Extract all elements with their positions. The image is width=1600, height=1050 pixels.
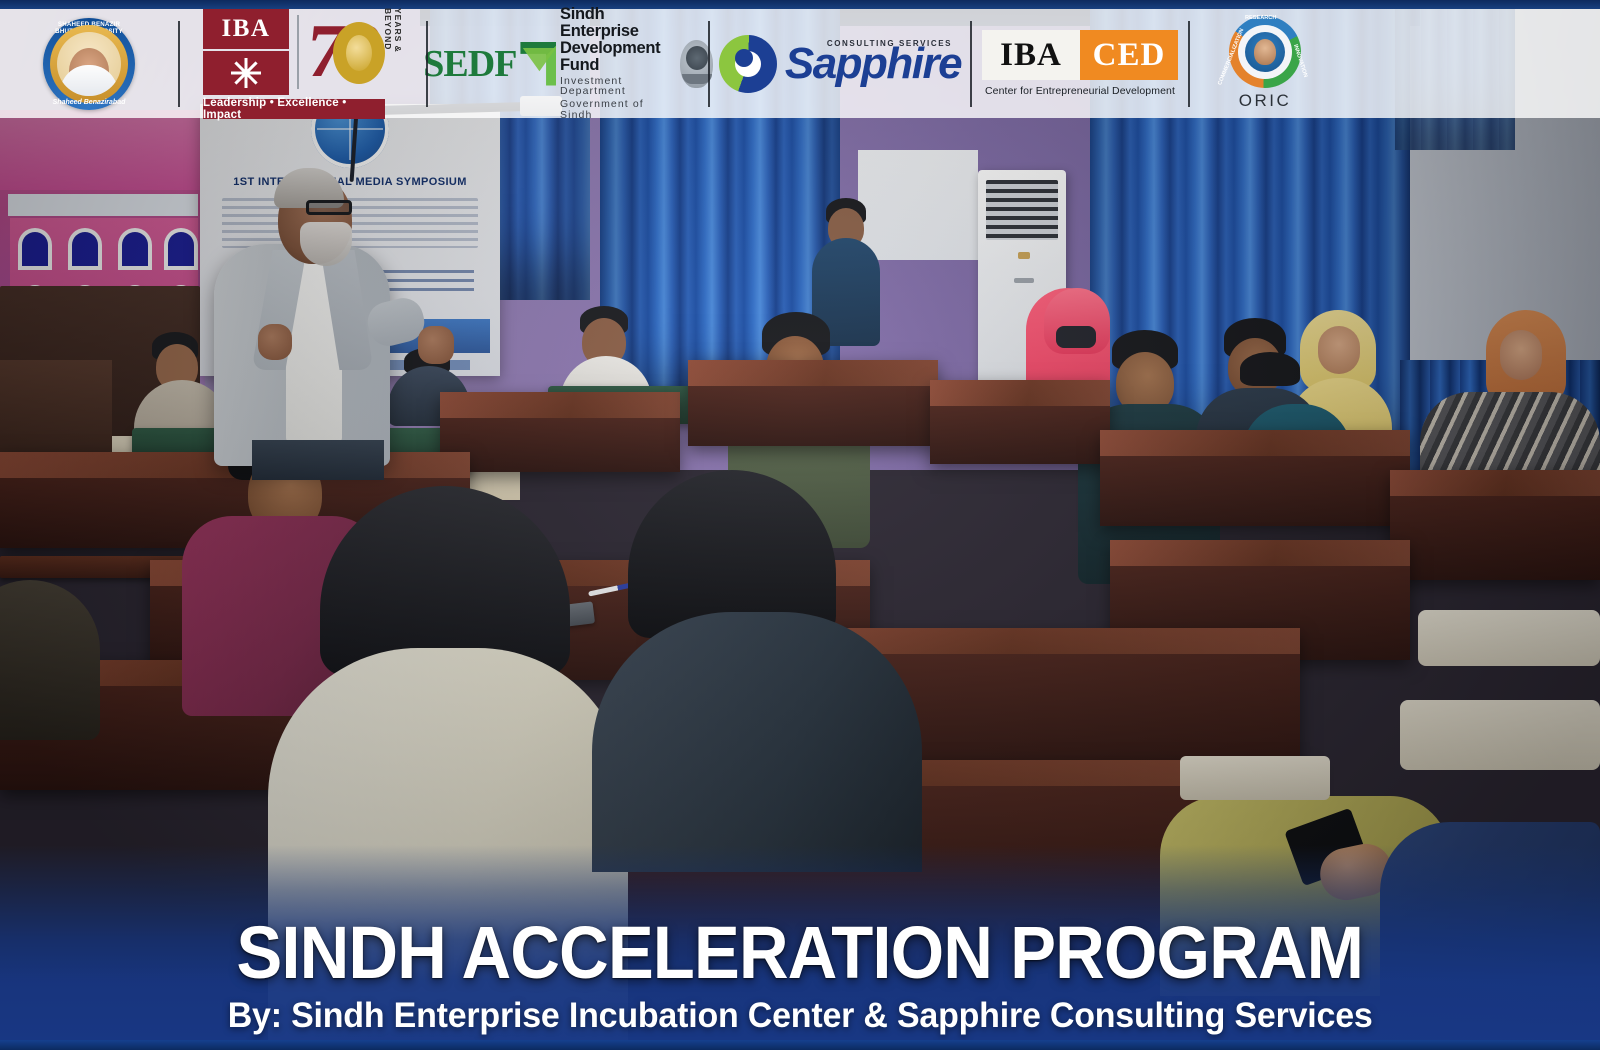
title-band: SINDH ACCELERATION PROGRAM By: Sindh Ent… — [0, 845, 1600, 1050]
iba-starburst-icon — [231, 58, 261, 88]
logo-divider — [970, 21, 972, 107]
event-poster: 1ST INTERNATIONAL MEDIA SYMPOSIUM — [0, 0, 1600, 1050]
podium-block — [0, 360, 112, 465]
iba-ced-logo: IBA CED Center for Entrepreneurial Devel… — [982, 30, 1178, 97]
logo-divider — [708, 21, 710, 107]
bench-cushion — [1400, 700, 1600, 770]
iba-tagline: Leadership • Excellence • Impact — [203, 99, 385, 119]
oric-wordmark: ORIC — [1239, 91, 1292, 111]
logo-divider — [426, 21, 428, 107]
face-mask — [1056, 326, 1096, 348]
ced-caption: Center for Entrepreneurial Development — [982, 85, 1178, 97]
logo-divider — [178, 21, 180, 107]
seal-ring-text-bottom: Shaheed Benazirabad — [43, 99, 135, 106]
logo-slot-iba-ced: IBA CED Center for Entrepreneurial Devel… — [972, 9, 1188, 118]
desk — [688, 360, 938, 446]
ced-word: CED — [1080, 30, 1178, 80]
logo-slot-iba-70: IBA 70 — [180, 9, 426, 118]
bench-cushion — [1418, 610, 1600, 666]
sbbu-seal: SHAHEED BENAZIR BHUTTO UNIVERSITY Shahee… — [43, 18, 135, 110]
bottom-accent-strip — [0, 1040, 1600, 1050]
program-title: SINDH ACCELERATION PROGRAM — [237, 914, 1364, 992]
iba-logo: IBA — [203, 9, 289, 95]
desk — [1390, 470, 1600, 580]
eyeglasses-icon — [306, 200, 352, 215]
logo-slot-university: SHAHEED BENAZIR BHUTTO UNIVERSITY Shahee… — [0, 9, 178, 118]
sedf-line2: Development Fund — [560, 40, 676, 74]
logo-slot-sedf: SEDF Sindh Enterprise Development Fund I… — [428, 9, 708, 118]
desk — [1100, 430, 1410, 526]
sapphire-logo: CONSULTING SERVICES Sapphire — [719, 35, 961, 93]
logo-slot-oric: RESEARCH INNOVATION COMMERCIALIZATION OR… — [1190, 9, 1340, 118]
bench-cushion — [1180, 756, 1330, 800]
sedf-acronym: SEDF — [423, 42, 516, 86]
sapphire-wordmark: Sapphire — [785, 42, 961, 86]
desk — [930, 380, 1110, 464]
sedf-arrow-icon — [520, 42, 556, 86]
70-years-logo: 70 YEARS & BEYOND — [307, 8, 403, 96]
iba-wordmark: IBA — [203, 9, 289, 49]
sapphire-swirl-icon — [719, 35, 777, 93]
sedf-line3: Investment Department — [560, 76, 676, 97]
sponsor-logo-bar: SHAHEED BENAZIR BHUTTO UNIVERSITY Shahee… — [0, 9, 1600, 118]
sedf-line4: Government of Sindh — [560, 99, 676, 120]
desk — [440, 392, 680, 472]
logo-slot-sapphire: CONSULTING SERVICES Sapphire — [710, 9, 970, 118]
sapphire-superline: CONSULTING SERVICES — [827, 39, 952, 48]
logo-divider — [1188, 21, 1190, 107]
sedf-line1: Sindh Enterprise — [560, 6, 676, 40]
oric-cycle-icon: RESEARCH INNOVATION COMMERCIALIZATION — [1229, 16, 1301, 88]
sedf-logo: SEDF Sindh Enterprise Development Fund I… — [423, 6, 712, 120]
whiteboard — [858, 150, 978, 260]
ced-iba-word: IBA — [982, 30, 1080, 80]
oric-segment-research: RESEARCH — [1245, 15, 1276, 21]
oric-logo: RESEARCH INNOVATION COMMERCIALIZATION OR… — [1229, 16, 1301, 111]
program-subtitle: By: Sindh Enterprise Incubation Center &… — [228, 994, 1373, 1038]
